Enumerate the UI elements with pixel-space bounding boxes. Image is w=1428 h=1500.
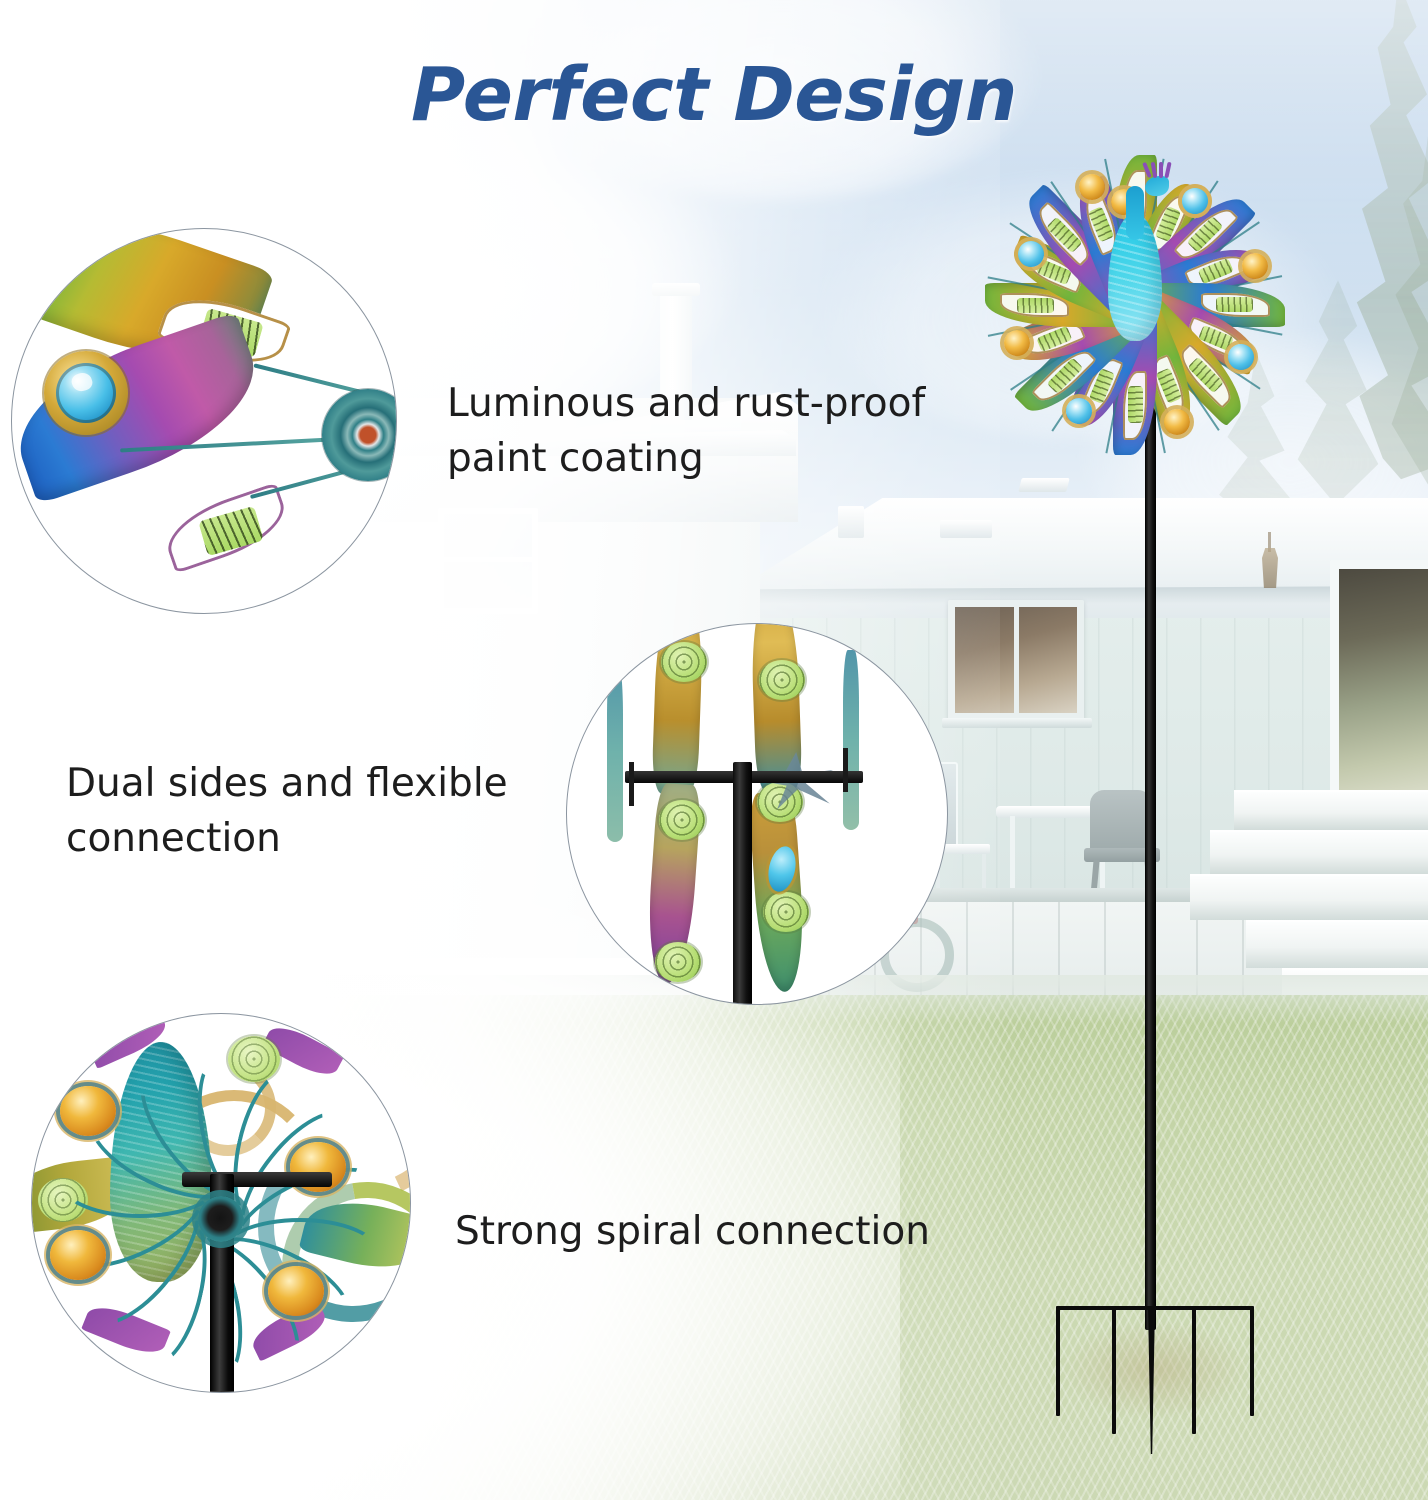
gem-bezel-gold xyxy=(44,351,128,435)
spinner-pole xyxy=(1145,400,1156,1330)
gem-amber xyxy=(268,1266,324,1316)
rotor-fin xyxy=(843,650,859,830)
blade-coil xyxy=(661,642,707,682)
gem-blue xyxy=(56,363,116,423)
gem-blue xyxy=(1066,398,1092,424)
blade-coil xyxy=(763,892,809,932)
blade-coil xyxy=(759,660,805,700)
rotor-hub xyxy=(198,1196,244,1242)
ground-stake xyxy=(1040,1290,1270,1460)
crossbar-end-cap xyxy=(843,748,848,792)
stake-leg xyxy=(1056,1306,1060,1416)
gem-amber xyxy=(1164,409,1190,435)
callout-label-dual-sides: Dual sides and flexible connection xyxy=(66,756,546,867)
roof-vent xyxy=(1018,478,1069,492)
stake-crossbar xyxy=(1056,1306,1254,1310)
crossbar-end-cap xyxy=(629,762,634,806)
peacock-head xyxy=(1145,176,1169,196)
gem-amber xyxy=(1242,253,1268,279)
stake-leg xyxy=(1112,1306,1116,1434)
spinner-pole-segment xyxy=(733,762,752,1005)
sliding-glass-door xyxy=(1330,560,1428,820)
wall-lantern xyxy=(1262,548,1278,588)
pole-crossbar xyxy=(182,1172,332,1187)
petal-eye-opening xyxy=(1123,371,1148,440)
gem-amber xyxy=(1079,174,1105,200)
blade-coil xyxy=(655,942,701,982)
page-title: Perfect Design xyxy=(0,52,1428,138)
detail-circle-peacock-petal-closeup xyxy=(11,228,397,614)
gem-amber xyxy=(50,1230,106,1280)
detail-circle-dual-rotor-closeup xyxy=(566,623,948,1005)
stake-leg xyxy=(1192,1306,1196,1434)
blade-coil xyxy=(659,800,705,840)
peacock-crown xyxy=(1145,160,1175,178)
detail-circle-spiral-hub-closeup xyxy=(31,1013,411,1393)
gem-amber xyxy=(60,1086,116,1136)
rotor-hub xyxy=(322,389,397,481)
callout-label-spiral-connection: Strong spiral connection xyxy=(455,1204,1015,1259)
infographic-canvas: Perfect Design Luminous and rust-proof p… xyxy=(0,0,1428,1500)
wind-spinner-rotor xyxy=(970,140,1300,470)
gem-blue xyxy=(1228,344,1254,370)
callout-label-luminous-paint: Luminous and rust-proof paint coating xyxy=(447,376,1007,487)
stake-center-spike xyxy=(1148,1306,1155,1454)
gem-blue xyxy=(1018,241,1044,267)
gem-blue xyxy=(1182,188,1208,214)
stake-leg xyxy=(1250,1306,1254,1416)
peacock-neck xyxy=(1126,186,1144,240)
rotor-fin xyxy=(607,662,623,842)
